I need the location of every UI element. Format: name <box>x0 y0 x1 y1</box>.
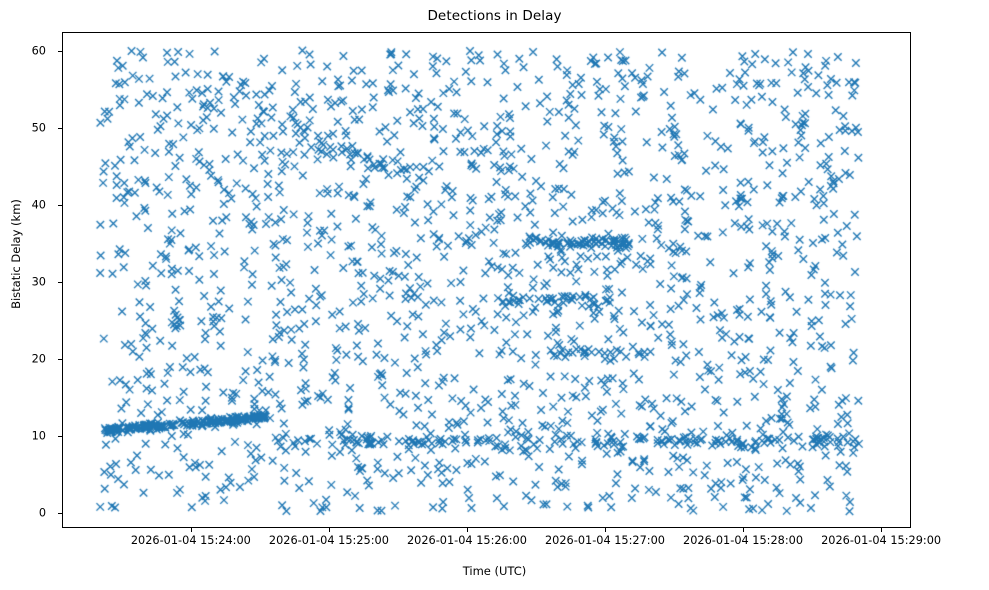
y-tick-mark <box>58 282 62 283</box>
x-tick-label: 2026-01-04 15:29:00 <box>821 534 941 547</box>
x-tick-label: 2026-01-04 15:28:00 <box>683 534 803 547</box>
plot-axes-frame <box>62 32 911 528</box>
y-tick-label: 0 <box>39 507 46 520</box>
page-title: Detections in Delay <box>0 8 989 24</box>
y-axis-label: Bistatic Delay (km) <box>9 119 23 389</box>
y-tick-mark <box>58 51 62 52</box>
x-tick-mark <box>743 528 744 532</box>
x-tick-label: 2026-01-04 15:27:00 <box>545 534 665 547</box>
x-axis-label: Time (UTC) <box>0 564 989 578</box>
x-tick-mark <box>881 528 882 532</box>
y-tick-mark <box>58 513 62 514</box>
y-tick-label: 10 <box>32 430 46 443</box>
x-tick-label: 2026-01-04 15:25:00 <box>269 534 389 547</box>
scatter-plot-canvas <box>63 33 911 528</box>
y-tick-mark <box>58 205 62 206</box>
x-tick-mark <box>605 528 606 532</box>
x-tick-label: 2026-01-04 15:24:00 <box>131 534 251 547</box>
y-tick-mark <box>58 128 62 129</box>
matplotlib-figure: Detections in Delay 2026-01-04 15:24:002… <box>0 0 989 590</box>
x-tick-mark <box>467 528 468 532</box>
x-tick-mark <box>329 528 330 532</box>
y-tick-mark <box>58 436 62 437</box>
y-tick-label: 20 <box>32 353 46 366</box>
y-tick-label: 40 <box>32 198 46 211</box>
y-tick-label: 60 <box>32 44 46 57</box>
y-tick-label: 50 <box>32 121 46 134</box>
x-tick-label: 2026-01-04 15:26:00 <box>407 534 527 547</box>
y-tick-mark <box>58 359 62 360</box>
x-tick-mark <box>191 528 192 532</box>
y-tick-label: 30 <box>32 275 46 288</box>
